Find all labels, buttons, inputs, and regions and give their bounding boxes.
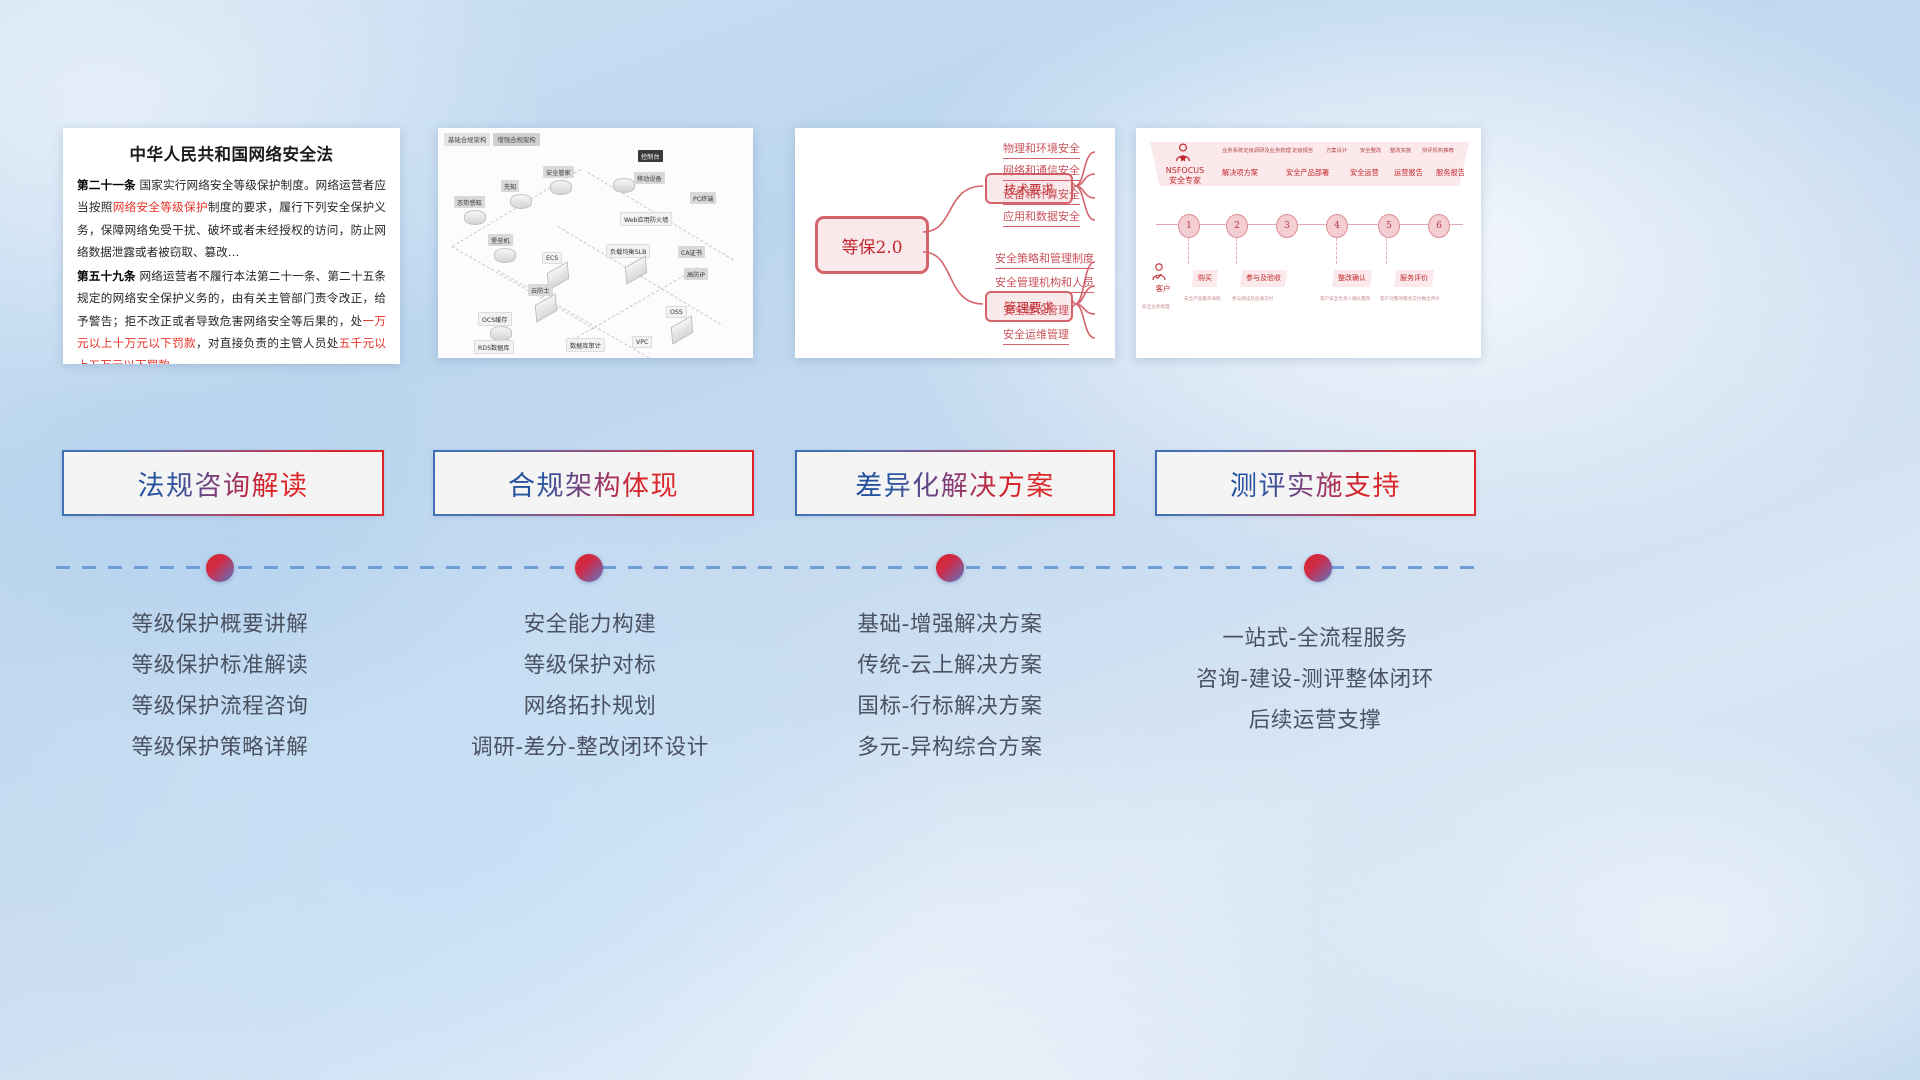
nsfocus-left-role: 客户 — [1142, 284, 1184, 293]
node-shape — [535, 293, 557, 323]
node-web-application-firewall: Web应用防火墙 — [620, 212, 672, 226]
list-item: 国标-行标解决方案 — [770, 686, 1130, 727]
section-title-box-2[interactable]: 合规架构体现 — [433, 450, 754, 516]
nsfocus-chip: 服务评价 — [1394, 270, 1434, 287]
node-shape — [625, 255, 647, 285]
nsfocus-top-label: 测评机构推荐 — [1422, 146, 1454, 154]
architecture-diagram: 基础合规架构 增强合规架构 控制台 安全管家 先知 态势感知 — [438, 128, 753, 358]
nsfocus-step: 4 — [1326, 214, 1348, 238]
list-item: 网络拓扑规划 — [410, 686, 770, 727]
list-item: 安全能力构建 — [410, 604, 770, 645]
node-cloud-defender: 云防士 — [528, 284, 553, 296]
list-item: 后续运营支撑 — [1135, 700, 1495, 741]
nsfocus-chip-title: 整改确认 — [1338, 274, 1366, 282]
law-article-21: 第二十一条 国家实行网络安全等级保护制度。网络运营者应当按照网络安全等级保护制度… — [77, 174, 386, 263]
node-shape — [464, 210, 486, 225]
nsfocus-connector — [1236, 238, 1237, 264]
node-situation-awareness: 态势感知 — [454, 196, 485, 208]
nsfocus-brand-sub: 安全专家 — [1154, 176, 1216, 186]
node-database-audit: 数据库审计 — [566, 338, 605, 352]
card-mindmap-dengbao: 等保2.0 技术要求 管理要求 — [795, 128, 1115, 358]
mindmap-leaf: 安全管理机构和人员 — [995, 274, 1094, 293]
person-star-icon — [1172, 142, 1194, 164]
nsfocus-chip-title: 参与及验收 — [1246, 274, 1281, 282]
section-title-box-1[interactable]: 法规咨询解读 — [62, 450, 384, 516]
mindmap-leaf: 设备和计算安全 — [1003, 186, 1080, 205]
node-pc-terminal: PC终端 — [690, 192, 716, 204]
node-security-steward: 安全管家 — [543, 166, 574, 178]
node-xianzhi: 先知 — [501, 180, 519, 192]
node-ca-certificate: CA证书 — [678, 246, 705, 258]
slide-stage: 中华人民共和国网络安全法 第二十一条 国家实行网络安全等级保护制度。网络运营者应… — [0, 0, 1920, 1080]
nsfocus-mid-label: 解决项方案 — [1222, 168, 1258, 178]
nsfocus-chip: 购买 — [1192, 270, 1218, 287]
mindmap-leaf: 网络和通信安全 — [1003, 162, 1080, 181]
node-mobile-device: 移动设备 — [634, 172, 665, 184]
node-oss: OSS — [666, 306, 687, 318]
node-rds-database: RDS数据库 — [474, 340, 514, 354]
article-59-label: 第五十九条 — [77, 269, 136, 283]
list-item: 等级保护标准解读 — [40, 645, 400, 686]
timeline-dot-1[interactable] — [206, 554, 234, 582]
list-item: 传统-云上解决方案 — [770, 645, 1130, 686]
nsfocus-timeline: NSFOCUS 安全专家 业务系统定级调研及业务梳理 定级报告 方案设计 安全整… — [1136, 128, 1481, 358]
node-ecs: ECS — [542, 252, 562, 264]
timeline-dot-2[interactable] — [575, 554, 603, 582]
nsfocus-step: 1 — [1178, 214, 1200, 238]
nsfocus-chip: 整改确认 — [1332, 270, 1372, 287]
article-59-text-b: ，对直接负责的主管人员处 — [196, 336, 339, 350]
law-card-body: 中华人民共和国网络安全法 第二十一条 国家实行网络安全等级保护制度。网络运营者应… — [63, 128, 400, 364]
detail-list-2: 安全能力构建 等级保护对标 网络拓扑规划 调研-差分-整改闭环设计 — [410, 604, 770, 768]
timeline-dot-3[interactable] — [936, 554, 964, 582]
nsfocus-brand: NSFOCUS 安全专家 — [1154, 166, 1216, 186]
section-title-label-4: 测评实施支持 — [1230, 464, 1401, 503]
node-anti-ddos-ip: 高防IP — [684, 268, 708, 280]
nsfocus-top-label: 方案设计 — [1326, 146, 1347, 154]
node-shape — [550, 180, 572, 195]
section-title-label-2: 合规架构体现 — [508, 464, 679, 503]
node-bastion-host: 堡垒机 — [488, 234, 513, 246]
nsfocus-step: 5 — [1378, 214, 1400, 238]
nsfocus-top-label: 整改实施 — [1390, 146, 1411, 154]
section-title-label-1: 法规咨询解读 — [138, 464, 309, 503]
detail-list-4: 一站式-全流程服务 咨询-建设-测评整体闭环 后续运营支撑 — [1135, 618, 1495, 741]
nsfocus-connector — [1336, 238, 1337, 264]
card-cybersecurity-law: 中华人民共和国网络安全法 第二十一条 国家实行网络安全等级保护制度。网络运营者应… — [63, 128, 400, 364]
nsfocus-chip-title: 服务评价 — [1400, 274, 1428, 282]
node-ocs-cache: OCS缓存 — [478, 312, 512, 326]
law-article-59: 第五十九条 网络运营者不履行本法第二十一条、第二十五条规定的网络安全保护义务的，… — [77, 265, 386, 364]
list-item: 基础-增强解决方案 — [770, 604, 1130, 645]
iso-guide — [452, 246, 595, 329]
nsfocus-left-role-title: 客户 — [1142, 284, 1184, 293]
article-21-highlight: 网络安全等级保护 — [113, 200, 208, 214]
nsfocus-chip-sub: 客户安全负责人确认整改 — [1320, 296, 1371, 302]
tab-basic-architecture[interactable]: 基础合规架构 — [444, 133, 490, 146]
nsfocus-mid-label: 安全运营 — [1350, 168, 1379, 178]
nsfocus-left-role-sub: 安全业务梳理 — [1142, 304, 1170, 310]
nsfocus-timeline-axis — [1156, 224, 1463, 225]
list-item: 等级保护对标 — [410, 645, 770, 686]
node-vpc: VPC — [632, 336, 652, 348]
nsfocus-chip-sub: 客户对整改服务交付做出评价 — [1380, 296, 1440, 302]
nsfocus-connector — [1188, 238, 1189, 264]
nsfocus-chip: 参与及验收 — [1240, 270, 1287, 287]
nsfocus-mid-label: 安全产品部署 — [1286, 168, 1329, 178]
node-shape — [671, 315, 693, 345]
section-title-label-3: 差异化解决方案 — [855, 464, 1055, 503]
section-title-row: 法规咨询解读 合规架构体现 差异化解决方案 测评实施支持 — [0, 450, 1920, 518]
list-item: 咨询-建设-测评整体闭环 — [1135, 659, 1495, 700]
tab-enhanced-architecture[interactable]: 增强合规架构 — [493, 133, 539, 146]
law-title: 中华人民共和国网络安全法 — [77, 141, 386, 165]
node-console: 控制台 — [638, 150, 663, 162]
article-21-label: 第二十一条 — [77, 178, 136, 192]
nsfocus-mid-label: 运营报告 — [1394, 168, 1423, 178]
nsfocus-top-label: 安全整改 — [1360, 146, 1381, 154]
mindmap: 等保2.0 技术要求 管理要求 — [795, 128, 1115, 358]
list-item: 一站式-全流程服务 — [1135, 618, 1495, 659]
mindmap-leaf: 安全建设管理 — [1003, 302, 1069, 321]
list-item: 等级保护概要讲解 — [40, 604, 400, 645]
nsfocus-chip-sub: 安全产品服务采购 — [1184, 296, 1221, 302]
mindmap-leaf: 安全运维管理 — [1003, 326, 1069, 345]
customer-icon — [1150, 262, 1168, 282]
list-item: 等级保护流程咨询 — [40, 686, 400, 727]
nsfocus-brand-name: NSFOCUS — [1154, 166, 1216, 176]
mindmap-leaf: 安全策略和管理制度 — [995, 250, 1094, 269]
timeline-dot-4[interactable] — [1304, 554, 1332, 582]
nsfocus-chip-title: 购买 — [1198, 274, 1212, 282]
architecture-tabs: 基础合规架构 增强合规架构 — [444, 133, 540, 146]
nsfocus-chip-sub: 参与建设及验收交付 — [1232, 296, 1273, 302]
card-nsfocus-service-flow: NSFOCUS 安全专家 业务系统定级调研及业务梳理 定级报告 方案设计 安全整… — [1136, 128, 1481, 358]
nsfocus-step: 6 — [1428, 214, 1450, 238]
node-shape — [494, 248, 516, 263]
nsfocus-step: 3 — [1276, 214, 1298, 238]
mindmap-leaf: 应用和数据安全 — [1003, 208, 1080, 227]
timeline-dashed-line — [56, 566, 1476, 569]
card-compliance-architecture: 基础合规架构 增强合规架构 控制台 安全管家 先知 态势感知 — [438, 128, 753, 358]
nsfocus-connector — [1386, 238, 1387, 264]
illustration-card-row: 中华人民共和国网络安全法 第二十一条 国家实行网络安全等级保护制度。网络运营者应… — [0, 128, 1920, 364]
list-item: 多元-异构综合方案 — [770, 727, 1130, 768]
nsfocus-mid-label: 服务报告 — [1436, 168, 1465, 178]
nsfocus-step: 2 — [1226, 214, 1248, 238]
mindmap-leaf: 物理和环境安全 — [1003, 140, 1080, 159]
list-item: 调研-差分-整改闭环设计 — [410, 727, 770, 768]
detail-list-1: 等级保护概要讲解 等级保护标准解读 等级保护流程咨询 等级保护策略详解 — [40, 604, 400, 768]
section-title-box-3[interactable]: 差异化解决方案 — [795, 450, 1115, 516]
node-shape — [613, 178, 635, 193]
node-shape — [490, 326, 512, 341]
nsfocus-top-label: 定级报告 — [1292, 146, 1313, 154]
detail-list-3: 基础-增强解决方案 传统-云上解决方案 国标-行标解决方案 多元-异构综合方案 — [770, 604, 1130, 768]
nsfocus-top-label: 业务系统定级调研及业务梳理 — [1222, 146, 1291, 154]
list-item: 等级保护策略详解 — [40, 727, 400, 768]
node-shape — [510, 194, 532, 209]
section-title-box-4[interactable]: 测评实施支持 — [1155, 450, 1476, 516]
